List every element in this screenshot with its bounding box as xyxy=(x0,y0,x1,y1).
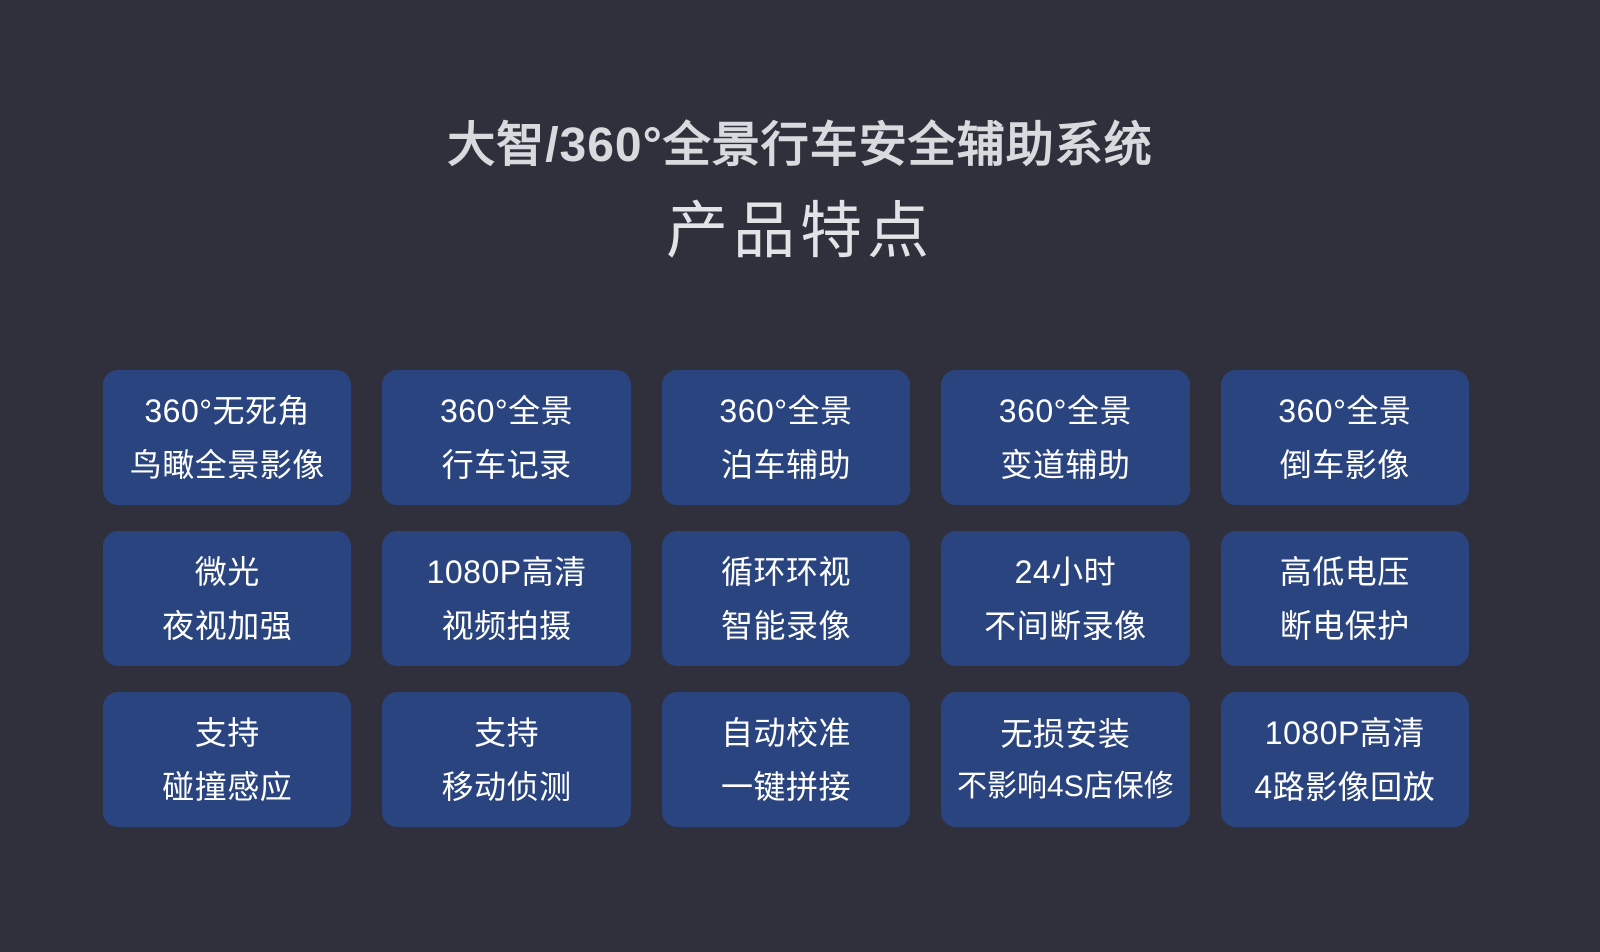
feature-card-line-2: 行车记录 xyxy=(442,449,572,481)
feature-card[interactable]: 1080P高清视频拍摄 xyxy=(382,531,630,666)
feature-card-line-1: 支持 xyxy=(195,717,260,749)
feature-card-grid: 360°无死角鸟瞰全景影像360°全景行车记录360°全景泊车辅助360°全景变… xyxy=(103,370,1469,827)
feature-card-line-1: 微光 xyxy=(195,556,260,588)
feature-card-line-2: 夜视加强 xyxy=(162,610,292,642)
feature-card-line-1: 360°全景 xyxy=(719,395,852,427)
feature-card[interactable]: 高低电压断电保护 xyxy=(1221,531,1469,666)
feature-card-line-1: 24小时 xyxy=(1015,556,1117,588)
feature-card[interactable]: 自动校准一键拼接 xyxy=(662,692,910,827)
feature-card-line-2: 倒车影像 xyxy=(1280,449,1410,481)
feature-card-line-1: 360°无死角 xyxy=(144,395,310,427)
feature-card[interactable]: 24小时不间断录像 xyxy=(941,531,1189,666)
header: 大智/360°全景行车安全辅助系统 产品特点 xyxy=(0,118,1600,266)
page-subtitle: 产品特点 xyxy=(0,197,1600,266)
feature-card[interactable]: 微光夜视加强 xyxy=(103,531,351,666)
feature-card[interactable]: 360°全景行车记录 xyxy=(382,370,630,505)
feature-card-line-1: 360°全景 xyxy=(440,395,573,427)
feature-card-line-2: 不间断录像 xyxy=(984,610,1147,642)
feature-card[interactable]: 支持碰撞感应 xyxy=(103,692,351,827)
feature-card[interactable]: 360°无死角鸟瞰全景影像 xyxy=(103,370,351,505)
feature-card-line-2: 一键拼接 xyxy=(721,771,851,803)
feature-card-line-2: 鸟瞰全景影像 xyxy=(130,449,325,481)
feature-card[interactable]: 无损安装不影响4S店保修 xyxy=(941,692,1189,827)
feature-card-line-1: 360°全景 xyxy=(999,395,1132,427)
feature-card-line-1: 1080P高清 xyxy=(1265,717,1425,749)
slide-root: 大智/360°全景行车安全辅助系统 产品特点 360°无死角鸟瞰全景影像360°… xyxy=(0,0,1600,952)
feature-card[interactable]: 1080P高清4路影像回放 xyxy=(1221,692,1469,827)
feature-card[interactable]: 360°全景泊车辅助 xyxy=(662,370,910,505)
feature-card-line-1: 1080P高清 xyxy=(427,556,587,588)
feature-card-line-1: 循环环视 xyxy=(721,556,851,588)
feature-card-line-1: 支持 xyxy=(474,717,539,749)
feature-card-line-2: 视频拍摄 xyxy=(442,610,572,642)
feature-card-line-1: 高低电压 xyxy=(1280,556,1410,588)
feature-card-line-1: 无损安装 xyxy=(1000,718,1130,750)
feature-card[interactable]: 360°全景变道辅助 xyxy=(941,370,1189,505)
feature-card-line-1: 360°全景 xyxy=(1278,395,1411,427)
feature-card-line-2: 断电保护 xyxy=(1280,610,1410,642)
feature-card-line-2: 智能录像 xyxy=(721,610,851,642)
feature-card-line-2: 4路影像回放 xyxy=(1254,771,1435,803)
feature-card[interactable]: 360°全景倒车影像 xyxy=(1221,370,1469,505)
feature-card[interactable]: 循环环视智能录像 xyxy=(662,531,910,666)
feature-card-line-2: 碰撞感应 xyxy=(162,771,292,803)
feature-card-line-2: 移动侦测 xyxy=(442,771,572,803)
feature-card-line-2: 不影响4S店保修 xyxy=(957,772,1174,802)
page-title: 大智/360°全景行车安全辅助系统 xyxy=(0,118,1600,175)
feature-card-line-1: 自动校准 xyxy=(721,717,851,749)
feature-card-line-2: 变道辅助 xyxy=(1000,449,1130,481)
feature-card[interactable]: 支持移动侦测 xyxy=(382,692,630,827)
feature-card-line-2: 泊车辅助 xyxy=(721,449,851,481)
